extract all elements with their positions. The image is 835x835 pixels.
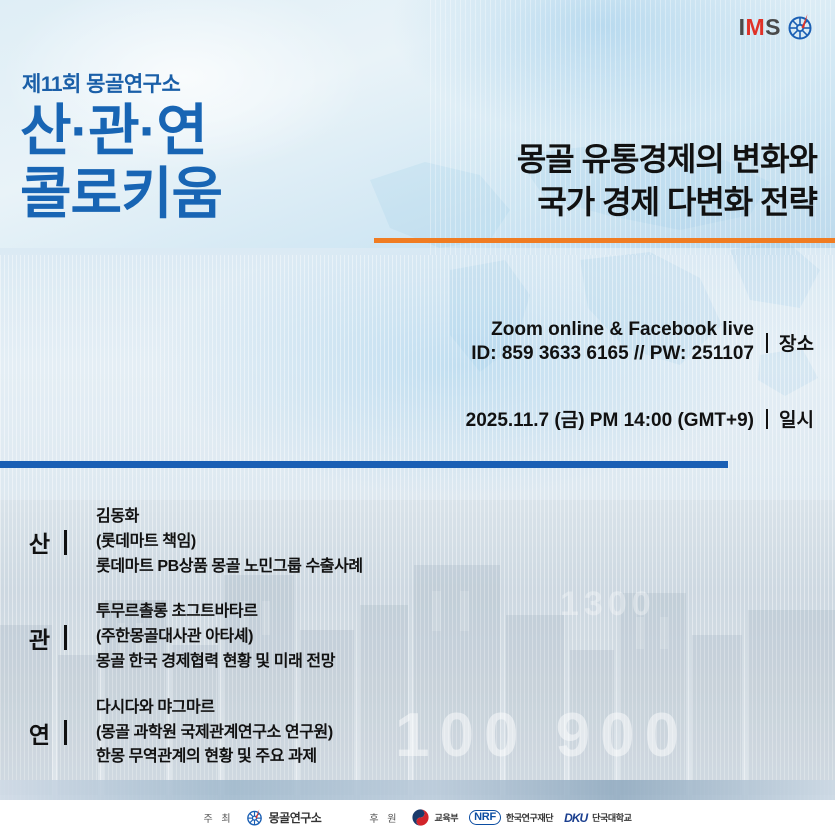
ims-wordmark: IMS [739,14,781,41]
sponsor-dku-name: 단국대학교 [592,811,631,824]
date-label: 일시 [779,405,817,432]
ims-logo: IMS [739,12,815,42]
venue-row: Zoom online & Facebook live ID: 859 3633… [466,318,817,367]
sponsor-nrf-name: 한국연구재단 [506,811,553,824]
background-ghost-number-small: 1300 [560,585,656,624]
speaker-tag-bar [64,625,67,650]
page-title: 산·관·연 콜로키움 [20,100,222,225]
speaker-affiliation: (롯데마트 책임) [96,530,363,555]
wheel-emblem-icon [245,808,264,827]
speaker-details: 김동화 (롯데마트 책임) 롯데마트 PB상품 몽골 노민그룹 수출사례 [96,505,363,579]
speaker-name: 다시다와 먀그마르 [96,696,333,721]
sponsor-moe-name: 교육부 [435,811,459,824]
session-title: 몽골 유통경제의 변화와 국가 경제 다변화 전략 [517,138,817,224]
sponsor-label: 후 원 [369,810,399,825]
date-row: 2025.11.7 (금) PM 14:00 (GMT+9) 일시 [466,405,817,432]
speaker-tag: 연 [0,716,96,750]
venue-label: 장소 [779,329,817,356]
footer-sponsors: 주 최 몽골연구소 후 원 [0,800,835,835]
speaker-tag: 산 [0,525,96,559]
taegeuk-icon [411,808,430,827]
orange-divider [374,238,835,243]
speaker-tag-label: 산 [29,525,50,559]
speaker-row: 연 다시다와 먀그마르 (몽골 과학원 국제관계연구소 연구원) 한몽 무역관계… [0,696,520,770]
event-info: Zoom online & Facebook live ID: 859 3633… [466,318,817,432]
date-value: 2025.11.7 (금) PM 14:00 (GMT+9) [466,405,754,432]
speaker-topic: 롯데마트 PB상품 몽골 노민그룹 수출사례 [96,555,363,580]
speaker-details: 투무르촐롱 초그트바타르 (주한몽골대사관 아타셰) 몽골 한국 경제협력 현황… [96,600,335,674]
speaker-details: 다시다와 먀그마르 (몽골 과학원 국제관계연구소 연구원) 한몽 무역관계의 … [96,696,333,770]
speaker-tag-bar [64,530,67,555]
speaker-tag-label: 관 [29,621,50,655]
host-organization: 몽골연구소 [245,808,322,827]
blue-divider [0,461,728,468]
speaker-topic: 몽골 한국 경제협력 현황 및 미래 전망 [96,650,335,675]
venue-value: Zoom online & Facebook live ID: 859 3633… [471,318,754,367]
speaker-affiliation: (주한몽골대사관 아타셰) [96,625,335,650]
nrf-badge: NRF [469,810,501,825]
sponsor-moe: 교육부 [411,808,459,827]
host-name: 몽골연구소 [269,809,322,826]
dku-badge: DKU [564,811,587,825]
venue-separator [766,333,768,353]
ims-letter-s: S [765,14,781,40]
speaker-row: 산 김동화 (롯데마트 책임) 롯데마트 PB상품 몽골 노민그룹 수출사례 [0,505,520,579]
session-title-line1: 몽골 유통경제의 변화와 [517,138,817,181]
wheel-emblem-icon [785,12,815,42]
speaker-row: 관 투무르촐롱 초그트바타르 (주한몽골대사관 아타셰) 몽골 한국 경제협력 … [0,600,520,674]
date-separator [766,409,768,429]
poster-canvas: 100 900 1300 IMS 제11회 몽골연구소 산·관·연 콜로키움 [0,0,835,835]
venue-platform: Zoom online & Facebook live [471,318,754,342]
ims-letter-m: M [745,14,765,40]
sponsor-nrf: NRF 한국연구재단 [469,810,553,825]
page-kicker: 제11회 몽골연구소 [22,68,180,98]
speaker-tag-label: 연 [29,716,50,750]
page-title-line1: 산·관·연 [20,100,222,163]
session-title-line2: 국가 경제 다변화 전략 [517,181,817,224]
host-label: 주 최 [203,810,233,825]
speaker-name: 투무르촐롱 초그트바타르 [96,600,335,625]
speaker-list: 산 김동화 (롯데마트 책임) 롯데마트 PB상품 몽골 노민그룹 수출사례 관… [0,505,520,791]
page-title-line2: 콜로키움 [20,163,222,226]
sponsor-dku: DKU 단국대학교 [564,811,631,825]
speaker-affiliation: (몽골 과학원 국제관계연구소 연구원) [96,721,333,746]
speaker-topic: 한몽 무역관계의 현황 및 주요 과제 [96,745,333,770]
speaker-tag: 관 [0,621,96,655]
venue-credentials: ID: 859 3633 6165 // PW: 251107 [471,342,754,367]
speaker-tag-bar [64,720,67,745]
speaker-name: 김동화 [96,505,363,530]
